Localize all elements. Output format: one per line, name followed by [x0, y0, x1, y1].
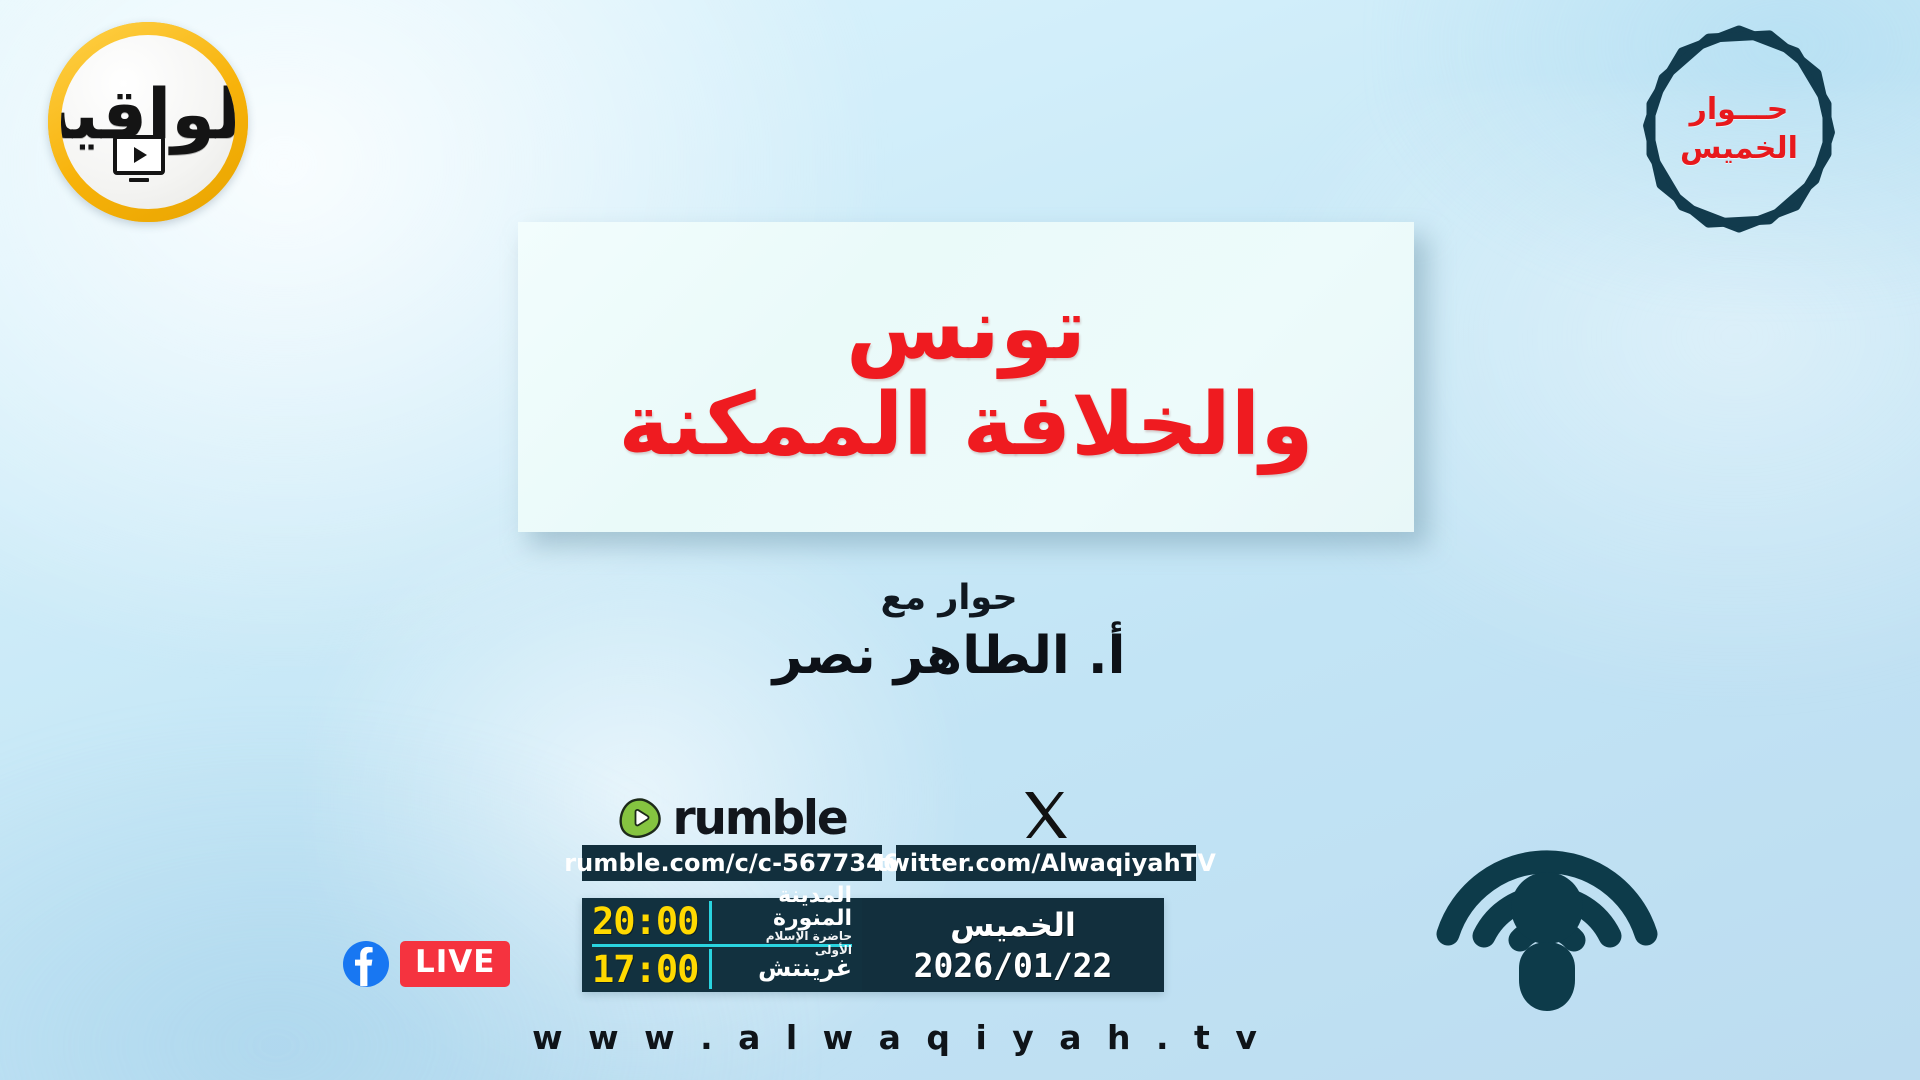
rumble-logo[interactable]: rumble	[582, 795, 882, 842]
title-line-2: والخلافة الممكنة	[618, 382, 1313, 468]
facebook-icon	[342, 940, 390, 988]
program-badge-text: حـــوار الخميس	[1620, 18, 1858, 240]
rumble-url-chip[interactable]: rumble.com/c/c-5677346	[582, 845, 882, 881]
title-panel: تونس والخلافة الممكنة	[518, 222, 1414, 532]
channel-logo[interactable]: الواقية	[48, 22, 248, 222]
schedule-row-medina: المدينة المنورة حاضرة الإسلام الأولى 20:…	[592, 899, 852, 947]
schedule-place-gmt: غرينتش	[721, 956, 852, 981]
x-icon	[1019, 788, 1073, 842]
program-badge-line1: حـــوار	[1690, 92, 1789, 127]
social-logos-row: rumble	[582, 780, 1210, 842]
social-url-chips: rumble.com/c/c-5677346 twitter.com/Alwaq…	[582, 845, 1210, 881]
schedule-date-block: الخميس 2026/01/22	[862, 898, 1164, 992]
broadcast-promo-slide: الواقية حـــوار الخميس تونس والخلافة الم…	[0, 0, 1920, 1080]
schedule-place-name-gmt: غرينتش	[725, 956, 852, 981]
title-line-1: تونس	[846, 286, 1086, 372]
guest-block: حوار مع أ. الطاهر نصر	[0, 578, 1909, 686]
twitter-x-logo[interactable]	[896, 788, 1196, 842]
website-url[interactable]: w w w . a l w a q i y a h . t v	[0, 1018, 1858, 1057]
schedule-divider-vertical	[709, 901, 712, 941]
schedule-date-value: 2026/01/22	[914, 946, 1113, 985]
live-label: LIVE	[400, 941, 510, 987]
guest-with-label: حوار مع	[880, 578, 1017, 618]
rumble-icon	[617, 797, 663, 841]
schedule-times: المدينة المنورة حاضرة الإسلام الأولى 20:…	[582, 898, 862, 992]
schedule-place-medina: المدينة المنورة حاضرة الإسلام الأولى	[721, 884, 852, 958]
guest-name: أ. الطاهر نصر	[773, 626, 1126, 686]
schedule-divider-vertical-2	[709, 949, 712, 989]
schedule-place-subtitle: حاضرة الإسلام الأولى	[725, 930, 852, 958]
schedule-time-medina: 20:00	[592, 900, 700, 943]
schedule-bar: المدينة المنورة حاضرة الإسلام الأولى 20:…	[582, 898, 1164, 992]
rumble-wordmark: rumble	[672, 795, 846, 842]
social-links-strip: rumble rumble.com/c/c-5677346 twitter.co…	[582, 780, 1210, 881]
facebook-live-badge[interactable]: LIVE	[342, 940, 510, 988]
program-badge-line2: الخميس	[1680, 131, 1798, 166]
twitter-url-chip[interactable]: twitter.com/AlwaqiyahTV	[896, 845, 1196, 881]
schedule-time-gmt: 17:00	[592, 948, 700, 991]
tv-play-icon	[113, 135, 165, 175]
logo-inner-disc: الواقية	[61, 35, 235, 209]
podcast-broadcast-icon	[1428, 764, 1666, 1016]
schedule-day-name: الخميس	[950, 906, 1076, 944]
program-badge: حـــوار الخميس	[1620, 18, 1858, 240]
schedule-place-name: المدينة المنورة	[725, 884, 852, 930]
